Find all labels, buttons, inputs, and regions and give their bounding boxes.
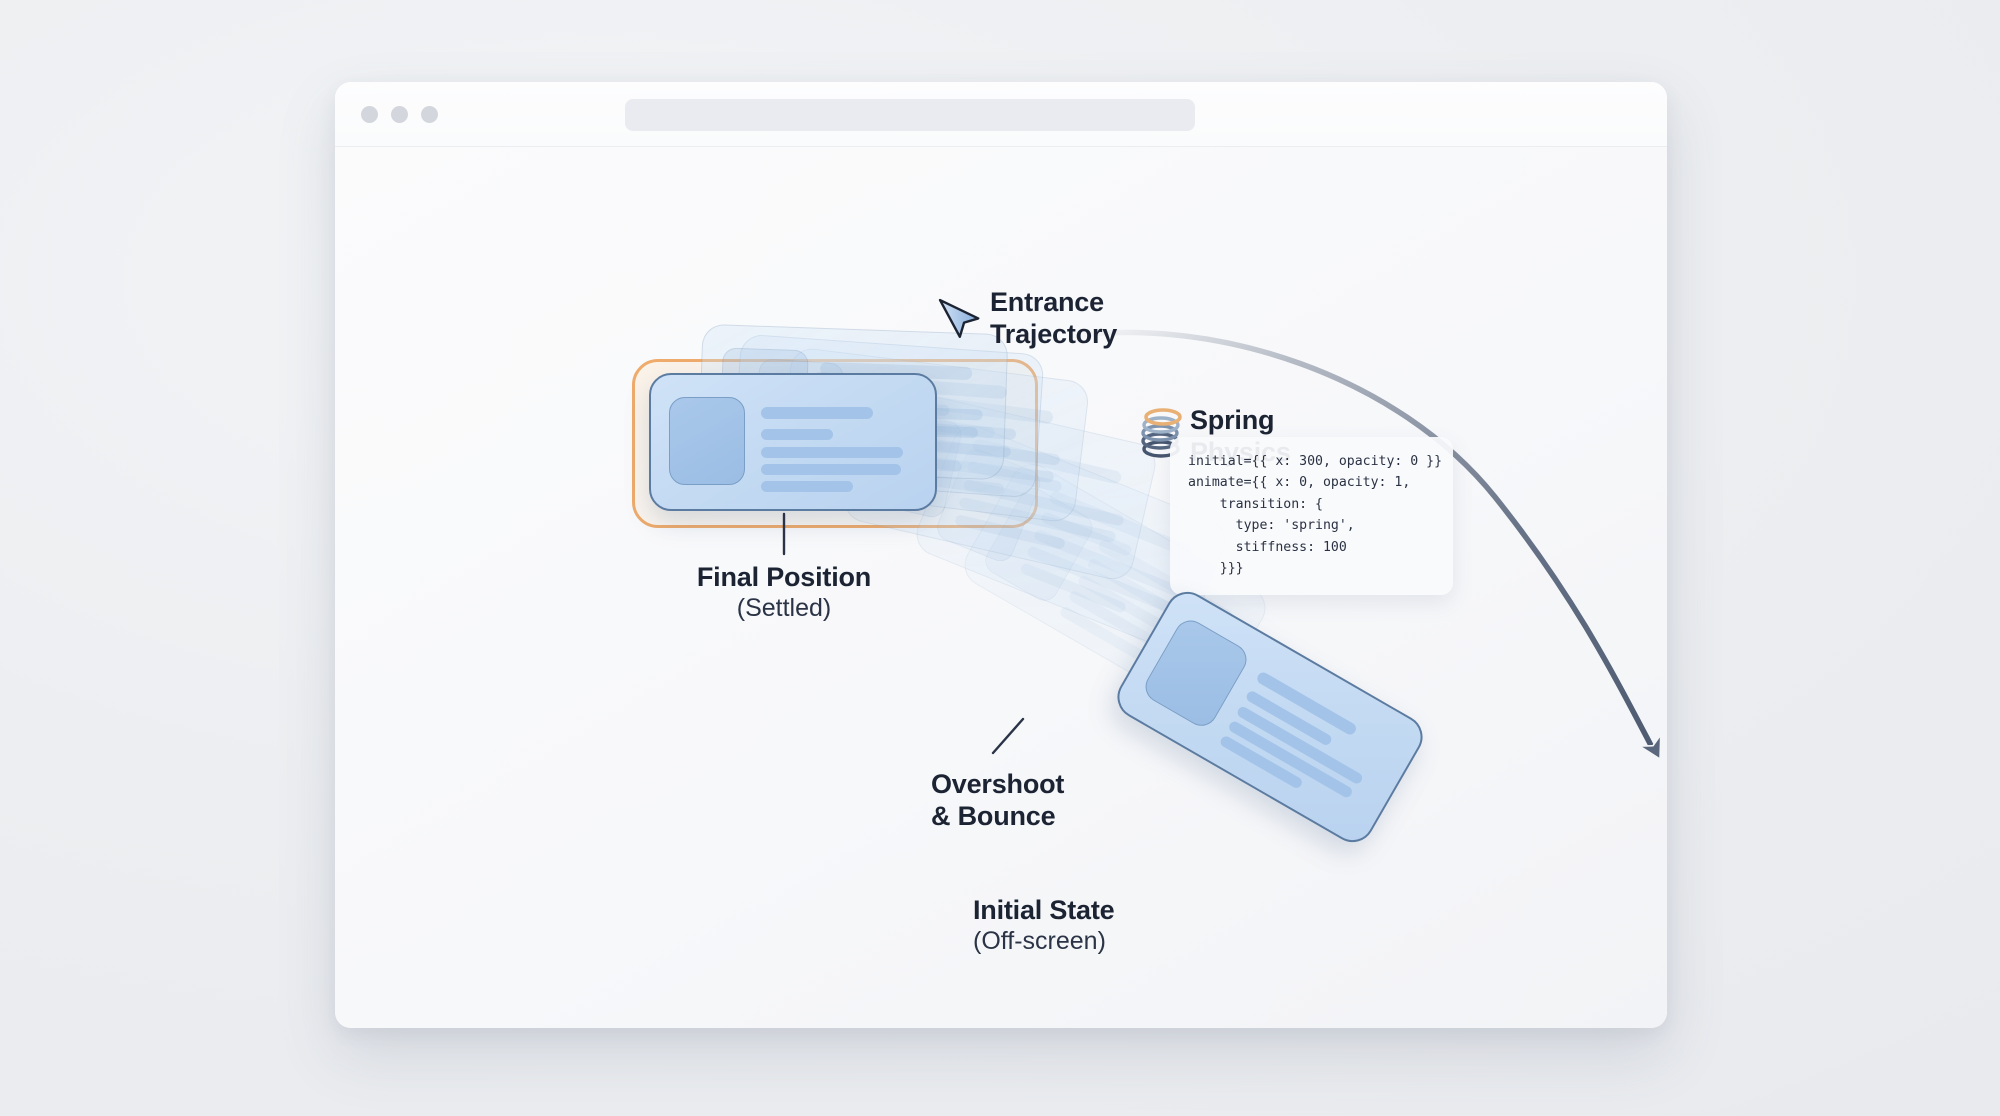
animation-scene: Final Position (Settled) Overshoot & Bou…	[335, 147, 1667, 1028]
label-final-position-subtitle: (Settled)	[649, 594, 919, 623]
label-final-position: Final Position (Settled)	[649, 562, 919, 623]
close-button-icon[interactable]	[361, 106, 378, 123]
label-entrance-trajectory-subtitle: Trajectory	[990, 319, 1117, 351]
browser-chrome	[335, 82, 1667, 147]
label-initial-state: Initial State (Off-screen)	[973, 895, 1114, 956]
card-text-line	[761, 407, 873, 419]
code-snippet-panel: initial={{ x: 300, opacity: 0 }} animate…	[1170, 437, 1453, 595]
card-text-line	[761, 481, 853, 492]
window-traffic-lights[interactable]	[361, 106, 438, 123]
label-initial-state-subtitle: (Off-screen)	[973, 927, 1114, 956]
browser-viewport: Final Position (Settled) Overshoot & Bou…	[335, 147, 1667, 1028]
label-overshoot-bounce-title: Overshoot	[931, 769, 1064, 801]
minimize-button-icon[interactable]	[391, 106, 408, 123]
label-initial-state-title: Initial State	[973, 895, 1114, 927]
label-entrance-trajectory: Entrance Trajectory	[990, 287, 1117, 350]
card-text-line	[761, 429, 833, 440]
label-overshoot-bounce: Overshoot & Bounce	[931, 769, 1064, 832]
browser-window: Final Position (Settled) Overshoot & Bou…	[335, 82, 1667, 1028]
card-text-line	[761, 447, 903, 458]
card-text-line	[761, 464, 901, 475]
label-spring-physics-title: Spring	[1190, 405, 1291, 437]
maximize-button-icon[interactable]	[421, 106, 438, 123]
code-snippet-text: initial={{ x: 300, opacity: 0 }} animate…	[1188, 451, 1435, 579]
final-position-card[interactable]	[649, 373, 937, 511]
screenshot-root: Final Position (Settled) Overshoot & Bou…	[0, 0, 2000, 1116]
label-entrance-trajectory-title: Entrance	[990, 287, 1117, 319]
card-thumbnail	[669, 397, 745, 485]
url-input[interactable]	[625, 99, 1195, 131]
label-final-position-title: Final Position	[649, 562, 919, 594]
label-overshoot-bounce-subtitle: & Bounce	[931, 801, 1064, 833]
